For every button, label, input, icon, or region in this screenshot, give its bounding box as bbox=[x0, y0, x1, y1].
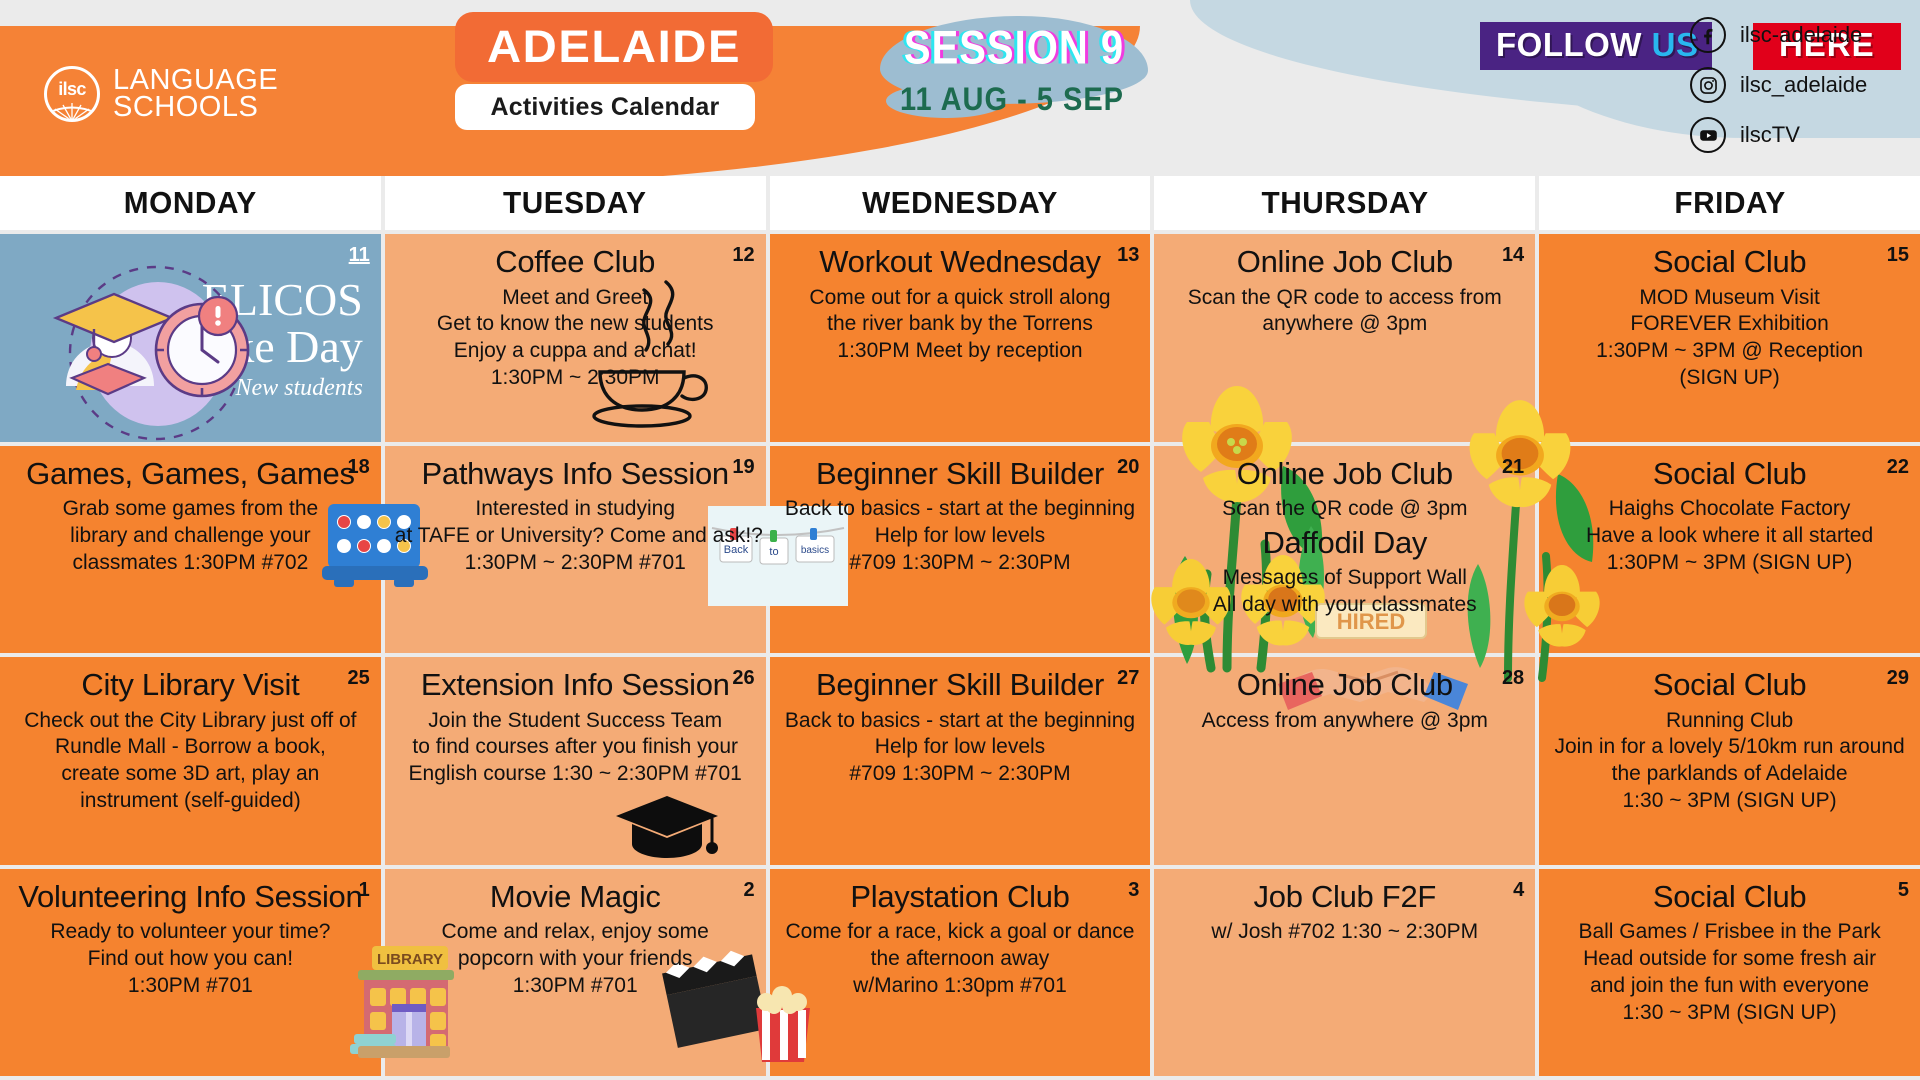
day-label-friday: FRIDAY bbox=[1674, 185, 1786, 221]
event-title: Social Club bbox=[1549, 458, 1910, 491]
event-description-line: create some 3D art, play an bbox=[10, 761, 371, 788]
calendar-cell-2[interactable]: 2Movie MagicCome and relax, enjoy somepo… bbox=[385, 869, 766, 1077]
day-label-thursday: THURSDAY bbox=[1261, 185, 1428, 221]
follow-word: FOLLOW bbox=[1496, 26, 1642, 63]
youtube-handle: ilscTV bbox=[1740, 122, 1800, 148]
day-header-monday: MONDAY bbox=[0, 176, 381, 230]
facebook-handle: ilsc-adelaide bbox=[1740, 22, 1862, 48]
social-links: ilsc-adelaide ilsc_adelaide ilscTV bbox=[1690, 14, 1867, 164]
event-description: Access from anywhere @ 3pm bbox=[1164, 708, 1525, 735]
event-description-line: 1:30 ~ 3PM (SIGN UP) bbox=[1549, 788, 1910, 815]
social-row-instagram[interactable]: ilsc_adelaide bbox=[1690, 64, 1867, 106]
event-title: City Library Visit bbox=[10, 669, 371, 702]
event-description-line: instrument (self-guided) bbox=[10, 788, 371, 815]
event-description-line: Scan the QR code to access from bbox=[1164, 285, 1525, 312]
day-header-wednesday: WEDNESDAY bbox=[770, 176, 1151, 230]
calendar-cell-11[interactable]: 11ELICOSIntake DayNew students bbox=[0, 234, 381, 442]
event-description-line: Scan the QR code @ 3pm bbox=[1164, 496, 1525, 523]
event-description: Back to basics - start at the beginningH… bbox=[780, 496, 1141, 577]
calendar-cell-5[interactable]: 5Social ClubBall Games / Frisbee in the … bbox=[1539, 869, 1920, 1077]
event-description-line: 1:30PM ~ 3PM @ Reception bbox=[1549, 338, 1910, 365]
event-description-line: FOREVER Exhibition bbox=[1549, 311, 1910, 338]
follow-us-label: FOLLOW US bbox=[1480, 22, 1712, 70]
date-number: 25 bbox=[348, 667, 370, 690]
event-description-line: Join in for a lovely 5/10km run around bbox=[1549, 734, 1910, 761]
event-description: Come and relax, enjoy somepopcorn with y… bbox=[395, 919, 756, 1000]
calendar-cell-26[interactable]: 26Extension Info SessionJoin the Student… bbox=[385, 657, 766, 865]
event-description-line: Come for a race, kick a goal or dance bbox=[780, 919, 1141, 946]
event-description-line: Come and relax, enjoy some bbox=[395, 919, 756, 946]
event-title: Online Job Club bbox=[1164, 458, 1525, 491]
event-description-line: MOD Museum Visit bbox=[1549, 285, 1910, 312]
event-description: Running ClubJoin in for a lovely 5/10km … bbox=[1549, 708, 1910, 816]
calendar-cell-18[interactable]: 18Games, Games, GamesGrab some games fro… bbox=[0, 446, 381, 654]
event-description-line: Interested in studying bbox=[395, 496, 756, 523]
day-label-monday: MONDAY bbox=[124, 185, 257, 221]
day-header-tuesday: TUESDAY bbox=[385, 176, 766, 230]
page-header: ilsc LANGUAGE SCHOOLS ADELAIDE Activitie bbox=[0, 0, 1920, 176]
event-description-line: classmates 1:30PM #702 bbox=[10, 550, 371, 577]
instagram-handle: ilsc_adelaide bbox=[1740, 72, 1867, 98]
date-number: 13 bbox=[1117, 244, 1139, 267]
event-description-line: #709 1:30PM ~ 2:30PM bbox=[780, 761, 1141, 788]
event-description-secondary: Messages of Support WallAll day with you… bbox=[1164, 565, 1525, 619]
event-description-line: w/Marino 1:30pm #701 bbox=[780, 973, 1141, 1000]
event-title: Volunteering Info Session bbox=[10, 881, 371, 914]
logo-rays-icon bbox=[46, 99, 98, 121]
logo-line-2: SCHOOLS bbox=[113, 94, 278, 121]
day-header-thursday: THURSDAY bbox=[1154, 176, 1535, 230]
event-description-line: Haighs Chocolate Factory bbox=[1549, 496, 1910, 523]
event-description-line: Help for low levels bbox=[780, 734, 1141, 761]
calendar-grid: 11ELICOSIntake DayNew students12Coffee C… bbox=[0, 234, 1920, 1076]
event-title: Online Job Club bbox=[1164, 669, 1525, 702]
day-label-wednesday: WEDNESDAY bbox=[862, 185, 1058, 221]
calendar-cell-28[interactable]: 28Online Job ClubAccess from anywhere @ … bbox=[1154, 657, 1535, 865]
event-description-line: 1:30PM Meet by reception bbox=[780, 338, 1141, 365]
social-row-youtube[interactable]: ilscTV bbox=[1690, 114, 1867, 156]
event-description-line: 1:30PM ~ 3PM (SIGN UP) bbox=[1549, 550, 1910, 577]
date-number: 3 bbox=[1128, 879, 1139, 902]
date-number: 29 bbox=[1887, 667, 1909, 690]
event-description: Back to basics - start at the beginningH… bbox=[780, 708, 1141, 789]
event-description-line: (SIGN UP) bbox=[1549, 365, 1910, 392]
event-title-secondary: Daffodil Day bbox=[1164, 527, 1525, 560]
elicos-intake-block: ELICOSIntake DayNew students bbox=[10, 246, 371, 434]
calendar-cell-4[interactable]: 4Job Club F2Fw/ Josh #702 1:30 ~ 2:30PM bbox=[1154, 869, 1535, 1077]
session-dates: 11 AUG - 5 SEP bbox=[862, 82, 1162, 119]
date-number: 2 bbox=[743, 879, 754, 902]
event-description: MOD Museum VisitFOREVER Exhibition1:30PM… bbox=[1549, 285, 1910, 393]
ilsc-logo-wordmark: LANGUAGE SCHOOLS bbox=[113, 67, 278, 121]
event-description-line: Come out for a quick stroll along bbox=[780, 285, 1141, 312]
event-description-line: popcorn with your friends bbox=[395, 946, 756, 973]
event-description-line: Help for low levels bbox=[780, 523, 1141, 550]
date-number: 20 bbox=[1117, 456, 1139, 479]
calendar-cell-1[interactable]: 1Volunteering Info SessionReady to volun… bbox=[0, 869, 381, 1077]
event-description: Ball Games / Frisbee in the ParkHead out… bbox=[1549, 919, 1910, 1027]
event-description-line: library and challenge your bbox=[10, 523, 371, 550]
event-description-line: to find courses after you finish your bbox=[395, 734, 756, 761]
date-number: 21 bbox=[1502, 456, 1524, 479]
date-number: 4 bbox=[1513, 879, 1524, 902]
facebook-icon[interactable] bbox=[1690, 17, 1726, 53]
event-description: Scan the QR code @ 3pm bbox=[1164, 496, 1525, 523]
event-description-line: the afternoon away bbox=[780, 946, 1141, 973]
event-description: Scan the QR code to access fromanywhere … bbox=[1164, 285, 1525, 339]
event-description: Ready to volunteer your time?Find out ho… bbox=[10, 919, 371, 1000]
calendar-cell-19[interactable]: 19Pathways Info SessionInterested in stu… bbox=[385, 446, 766, 654]
event-description: Haighs Chocolate FactoryHave a look wher… bbox=[1549, 496, 1910, 577]
event-description-line: Rundle Mall - Borrow a book, bbox=[10, 734, 371, 761]
ilsc-logo-text: ilsc bbox=[58, 79, 86, 100]
calendar-cell-27[interactable]: 27Beginner Skill BuilderBack to basics -… bbox=[770, 657, 1151, 865]
ilsc-logo: ilsc LANGUAGE SCHOOLS bbox=[44, 66, 278, 122]
event-title: Workout Wednesday bbox=[780, 246, 1141, 279]
event-description-line: the parklands of Adelaide bbox=[1549, 761, 1910, 788]
date-number: 12 bbox=[732, 244, 754, 267]
event-description-line: Ready to volunteer your time? bbox=[10, 919, 371, 946]
day-header-row: MONDAY TUESDAY WEDNESDAY THURSDAY FRIDAY bbox=[0, 176, 1920, 234]
calendar-cell-29[interactable]: 29Social ClubRunning ClubJoin in for a l… bbox=[1539, 657, 1920, 865]
event-description: Interested in studyingat TAFE or Univers… bbox=[395, 496, 756, 577]
date-number: 22 bbox=[1887, 456, 1909, 479]
event-description-line: at TAFE or University? Come and ask!? bbox=[395, 523, 756, 550]
event-description-line: Access from anywhere @ 3pm bbox=[1164, 708, 1525, 735]
city-badge: ADELAIDE bbox=[455, 12, 773, 82]
calendar-cell-13[interactable]: 13Workout WednesdayCome out for a quick … bbox=[770, 234, 1151, 442]
event-description-line: All day with your classmates bbox=[1164, 592, 1525, 619]
event-title: Movie Magic bbox=[395, 881, 756, 914]
event-description-line: 1:30 ~ 3PM (SIGN UP) bbox=[1549, 1000, 1910, 1027]
event-title-2: Intake Day bbox=[160, 323, 363, 371]
event-title: Social Club bbox=[1549, 669, 1910, 702]
event-description: Come for a race, kick a goal or dancethe… bbox=[780, 919, 1141, 1000]
date-number: 11 bbox=[349, 244, 370, 267]
date-number: 18 bbox=[348, 456, 370, 479]
event-title: Job Club F2F bbox=[1164, 881, 1525, 914]
event-description-line: Grab some games from the bbox=[10, 496, 371, 523]
event-title: Online Job Club bbox=[1164, 246, 1525, 279]
event-description-line: anywhere @ 3pm bbox=[1164, 311, 1525, 338]
event-description-line: Find out how you can! bbox=[10, 946, 371, 973]
event-title: Social Club bbox=[1549, 246, 1910, 279]
event-title: Coffee Club bbox=[395, 246, 756, 279]
calendar: MONDAY TUESDAY WEDNESDAY THURSDAY FRIDAY… bbox=[0, 176, 1920, 1080]
calendar-cell-22[interactable]: 22Social ClubHaighs Chocolate FactoryHav… bbox=[1539, 446, 1920, 654]
event-description: Check out the City Library just off ofRu… bbox=[10, 708, 371, 816]
event-description-line: 1:30PM ~ 2:30PM #701 bbox=[395, 550, 756, 577]
calendar-cell-21[interactable]: 21Online Job ClubScan the QR code @ 3pmD… bbox=[1154, 446, 1535, 654]
event-title: Beginner Skill Builder bbox=[780, 458, 1141, 491]
event-description-line: Back to basics - start at the beginning bbox=[780, 708, 1141, 735]
event-description-line: Messages of Support Wall bbox=[1164, 565, 1525, 592]
event-description-line: 1:30PM #701 bbox=[10, 973, 371, 1000]
event-description-line: 1:30PM #701 bbox=[395, 973, 756, 1000]
event-description-line: and join the fun with everyone bbox=[1549, 973, 1910, 1000]
calendar-cell-20[interactable]: 20Beginner Skill BuilderBack to basics -… bbox=[770, 446, 1151, 654]
calendar-cell-25[interactable]: 25City Library VisitCheck out the City L… bbox=[0, 657, 381, 865]
event-description-line: Back to basics - start at the beginning bbox=[780, 496, 1141, 523]
day-label-tuesday: TUESDAY bbox=[503, 185, 647, 221]
activities-calendar-page: ilsc LANGUAGE SCHOOLS ADELAIDE Activitie bbox=[0, 0, 1920, 1080]
subtitle-badge: Activities Calendar bbox=[455, 84, 755, 130]
event-title: Pathways Info Session bbox=[395, 458, 756, 491]
instagram-icon[interactable] bbox=[1690, 67, 1726, 103]
event-description-line: Check out the City Library just off of bbox=[10, 708, 371, 735]
event-title: Extension Info Session bbox=[395, 669, 756, 702]
event-description-line: Head outside for some fresh air bbox=[1549, 946, 1910, 973]
event-description-line: w/ Josh #702 1:30 ~ 2:30PM bbox=[1164, 919, 1525, 946]
event-description: Join the Student Success Teamto find cou… bbox=[395, 708, 756, 789]
day-header-friday: FRIDAY bbox=[1539, 176, 1920, 230]
city-name: ADELAIDE bbox=[487, 21, 741, 73]
calendar-cell-15[interactable]: 15Social ClubMOD Museum VisitFOREVER Exh… bbox=[1539, 234, 1920, 442]
event-description-line: Join the Student Success Team bbox=[395, 708, 756, 735]
event-description: w/ Josh #702 1:30 ~ 2:30PM bbox=[1164, 919, 1525, 946]
event-description-line: Have a look where it all started bbox=[1549, 523, 1910, 550]
event-description-line: Get to know the new students bbox=[395, 311, 756, 338]
calendar-cell-14[interactable]: 14Online Job ClubScan the QR code to acc… bbox=[1154, 234, 1535, 442]
date-number: 27 bbox=[1117, 667, 1139, 690]
event-description-line: the river bank by the Torrens bbox=[780, 311, 1141, 338]
date-number: 5 bbox=[1898, 879, 1909, 902]
event-title: Social Club bbox=[1549, 881, 1910, 914]
event-description-line: Enjoy a cuppa and a chat! bbox=[395, 338, 756, 365]
event-description-line: Running Club bbox=[1549, 708, 1910, 735]
event-description: Grab some games from thelibrary and chal… bbox=[10, 496, 371, 577]
event-description-line: 1:30PM ~ 2:30PM bbox=[395, 365, 756, 392]
event-description: Meet and GreetGet to know the new studen… bbox=[395, 285, 756, 393]
event-description-line: #709 1:30PM ~ 2:30PM bbox=[780, 550, 1141, 577]
calendar-cell-12[interactable]: 12Coffee ClubMeet and GreetGet to know t… bbox=[385, 234, 766, 442]
session-label: SESSION 9 bbox=[880, 22, 1148, 75]
event-title: Playstation Club bbox=[780, 881, 1141, 914]
date-number: 26 bbox=[732, 667, 754, 690]
calendar-subtitle: Activities Calendar bbox=[491, 93, 720, 122]
date-number: 15 bbox=[1887, 244, 1909, 267]
date-number: 14 bbox=[1502, 244, 1524, 267]
event-title: ELICOS bbox=[202, 277, 363, 323]
event-title: Games, Games, Games bbox=[10, 458, 371, 491]
youtube-icon[interactable] bbox=[1690, 117, 1726, 153]
event-title: Beginner Skill Builder bbox=[780, 669, 1141, 702]
logo-line-1: LANGUAGE bbox=[113, 67, 278, 94]
date-number: 19 bbox=[732, 456, 754, 479]
date-number: 1 bbox=[359, 879, 370, 902]
event-description-line: Meet and Greet bbox=[395, 285, 756, 312]
date-number: 28 bbox=[1502, 667, 1524, 690]
event-description-line: Ball Games / Frisbee in the Park bbox=[1549, 919, 1910, 946]
event-description: Come out for a quick stroll alongthe riv… bbox=[780, 285, 1141, 366]
social-row-facebook[interactable]: ilsc-adelaide bbox=[1690, 14, 1867, 56]
event-description-line: English course 1:30 ~ 2:30PM #701 bbox=[395, 761, 756, 788]
ilsc-logo-mark-icon: ilsc bbox=[44, 66, 100, 122]
calendar-cell-3[interactable]: 3Playstation ClubCome for a race, kick a… bbox=[770, 869, 1151, 1077]
event-subtitle: New students bbox=[235, 375, 362, 402]
